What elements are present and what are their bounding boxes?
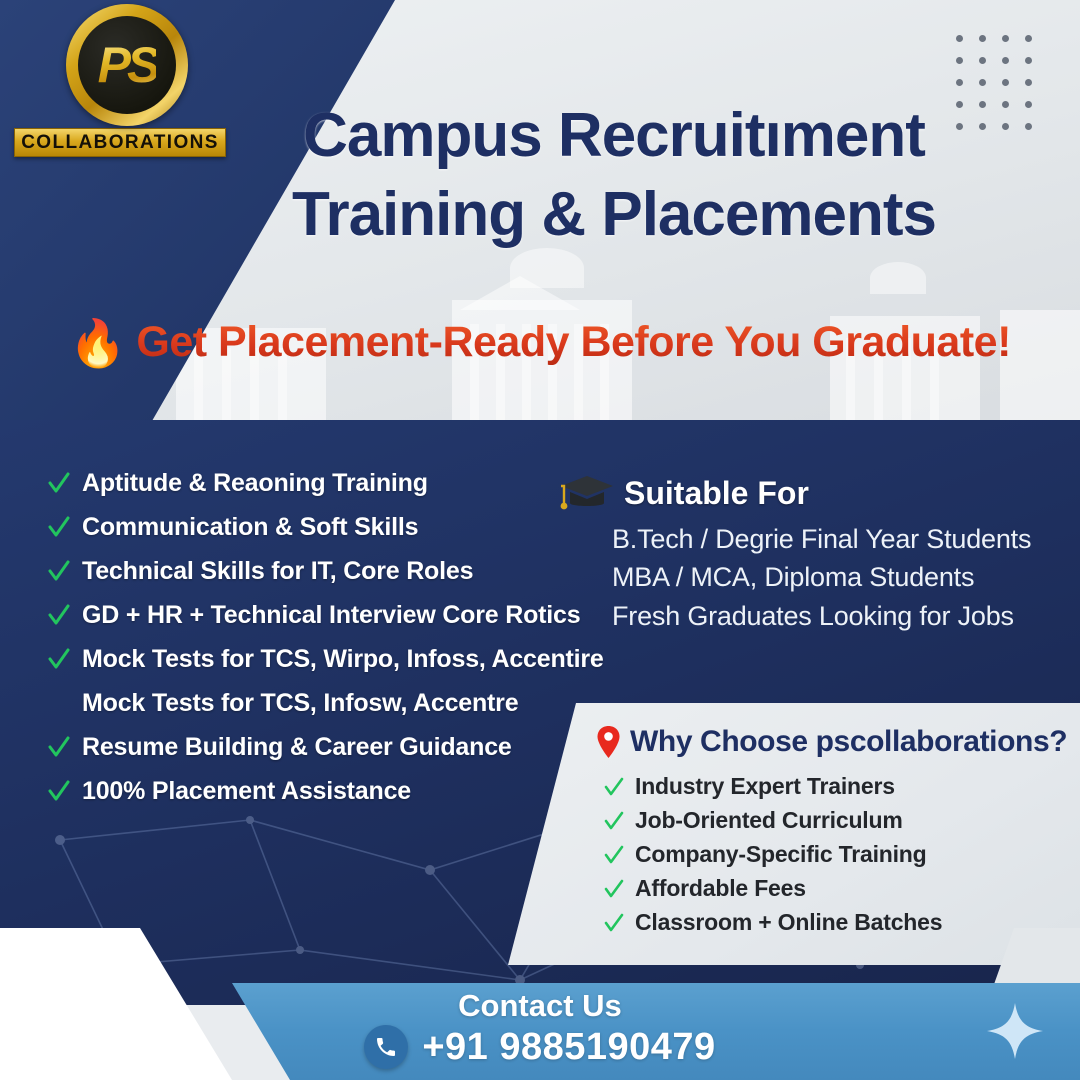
ps-monogram-text: PS <box>98 36 157 94</box>
suitable-for-line: MBA / MCA, Diploma Students <box>556 558 1056 596</box>
feature-label: Mock Tests for TCS, Wirpo, Infoss, Accen… <box>82 644 604 675</box>
check-icon <box>48 470 70 496</box>
phone-icon[interactable] <box>364 1025 408 1069</box>
check-icon <box>604 776 624 798</box>
check-icon <box>48 602 70 628</box>
check-icon <box>604 878 624 900</box>
grid-dot <box>1002 35 1009 42</box>
suitable-for-header: Suitable For <box>556 472 1056 514</box>
phone-row[interactable]: +91 9885190479 <box>0 1025 1080 1069</box>
grid-dot <box>979 79 986 86</box>
why-choose-title: Why Choose pscollaborations? <box>630 725 1067 759</box>
poster-canvas: PS COLLABORATIONS Campus Recruitıment Tr… <box>0 0 1080 1080</box>
feature-label: Aptitude & Reaoning Training <box>82 468 428 499</box>
feature-label: Resume Building & Career Guidance <box>82 732 512 763</box>
why-choose-label: Affordable Fees <box>635 875 806 902</box>
grid-dot <box>1025 35 1032 42</box>
building-dome <box>870 262 926 294</box>
feature-label: Mock Tests for TCS, Infosw, Accentre <box>82 688 518 719</box>
feature-item: Resume Building & Career Guidance <box>48 732 608 766</box>
suitable-for-title: Suitable For <box>624 475 809 512</box>
title-line-1: Campus Recruitıment <box>214 96 1014 175</box>
grid-dot <box>956 35 963 42</box>
grid-dot <box>1025 57 1032 64</box>
why-choose-label: Company-Specific Training <box>635 841 927 868</box>
ps-monogram: PS <box>78 16 176 114</box>
grid-dot <box>956 57 963 64</box>
suitable-for-line: Fresh Graduates Looking for Jobs <box>556 597 1056 635</box>
check-icon <box>604 844 624 866</box>
grid-dot <box>1025 79 1032 86</box>
grid-dot <box>979 35 986 42</box>
feature-label: 100% Placement Assistance <box>82 776 411 807</box>
why-choose-label: Classroom + Online Batches <box>635 909 942 936</box>
check-icon <box>48 514 70 540</box>
ps-coin-icon: PS <box>44 8 196 126</box>
grid-dot <box>979 57 986 64</box>
feature-item: Mock Tests for TCS, Wirpo, Infoss, Accen… <box>48 644 608 678</box>
location-pin-icon <box>596 725 621 759</box>
phone-number[interactable]: +91 9885190479 <box>422 1026 715 1069</box>
brand-logo: PS COLLABORATIONS <box>14 8 226 157</box>
fire-icon: 🔥 <box>69 320 126 366</box>
check-icon <box>48 646 70 672</box>
check-icon <box>604 912 624 934</box>
feature-item: 100% Placement Assistance <box>48 776 608 810</box>
suitable-for-line: B.Tech / Degrie Final Year Students <box>556 520 1056 558</box>
feature-item: Technical Skills for IT, Core Roles <box>48 556 608 590</box>
graduation-cap-icon <box>556 470 618 512</box>
why-choose-item: Classroom + Online Batches <box>604 909 942 936</box>
why-choose-list: Industry Expert Trainers Job-Oriented Cu… <box>604 773 942 943</box>
page-title: Campus Recruitıment Training & Placement… <box>214 96 1014 255</box>
feature-item: Aptitude & Reaoning Training <box>48 468 608 502</box>
why-choose-item: Company-Specific Training <box>604 841 942 868</box>
grid-dot <box>1002 57 1009 64</box>
tagline-row: 🔥 Get Placement-Ready Before You Graduat… <box>0 318 1080 367</box>
check-icon <box>48 558 70 584</box>
why-choose-header: Why Choose pscollaborations? <box>596 725 1067 759</box>
tagline-text: Get Placement-Ready Before You Graduate! <box>136 318 1011 367</box>
grid-dot <box>1025 101 1032 108</box>
brand-name-text: COLLABORATIONS <box>21 132 219 154</box>
feature-item: Mock Tests for TCS, Infosw, Accentre <box>48 688 608 722</box>
sparkle-icon <box>984 1000 1046 1062</box>
why-choose-item: Industry Expert Trainers <box>604 773 942 800</box>
why-choose-item: Job-Oriented Curriculum <box>604 807 942 834</box>
grid-dot <box>1025 123 1032 130</box>
feature-label: Communication & Soft Skills <box>82 512 418 543</box>
feature-label: GD + HR + Technical Interview Core Rotic… <box>82 600 580 631</box>
why-choose-label: Job-Oriented Curriculum <box>635 807 903 834</box>
check-icon <box>48 734 70 760</box>
grid-dot <box>956 79 963 86</box>
contact-title: Contact Us <box>0 988 1080 1024</box>
grid-dot <box>1002 79 1009 86</box>
why-choose-card: Why Choose pscollaborations? Industry Ex… <box>508 703 1080 965</box>
check-icon <box>604 810 624 832</box>
brand-name-banner: COLLABORATIONS <box>14 128 226 157</box>
check-icon <box>48 778 70 804</box>
title-line-2: Training & Placements <box>214 175 1014 254</box>
features-list: Aptitude & Reaoning Training Communicati… <box>48 468 608 820</box>
suitable-for-section: Suitable For B.Tech / Degrie Final Year … <box>556 472 1056 635</box>
feature-label: Technical Skills for IT, Core Roles <box>82 556 473 587</box>
why-choose-label: Industry Expert Trainers <box>635 773 895 800</box>
feature-item: Communication & Soft Skills <box>48 512 608 546</box>
feature-item: GD + HR + Technical Interview Core Rotic… <box>48 600 608 634</box>
why-choose-item: Affordable Fees <box>604 875 942 902</box>
